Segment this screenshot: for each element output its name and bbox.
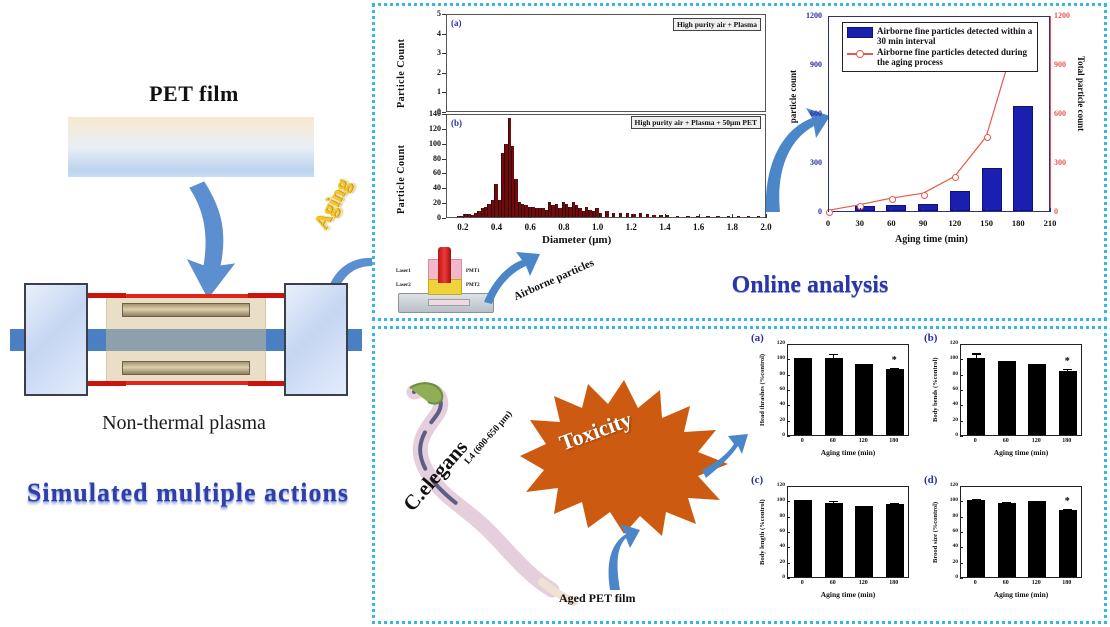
toxicity-errorbar-cap (972, 353, 981, 354)
arrow-aged-film-to-toxicity-icon (592, 520, 642, 592)
toxicity-xtick: 0 (792, 580, 812, 586)
toxicity-ytick: 100 (942, 497, 958, 503)
tox-a-tag: (a) (751, 332, 764, 344)
combo-xtick: 30 (849, 218, 871, 228)
toxicity-bar (1059, 510, 1077, 577)
significance-marker: * (1065, 496, 1070, 507)
pmt1-label: PMT1 (466, 269, 480, 274)
histogram-bar (716, 216, 719, 217)
histogram-b-ytick: 100 (419, 139, 441, 148)
combo-right-ytick: 0 (1054, 207, 1080, 216)
legend-bar-label: Airborne fine particles detected within … (877, 26, 1033, 46)
histogram-xtick: 1.6 (687, 222, 711, 232)
histogram-bar (646, 214, 649, 217)
combo-xtick-mark (923, 208, 924, 212)
toxicity-bar (886, 504, 904, 577)
histogram-bar (652, 215, 655, 217)
histogram-xtick-mark (497, 214, 498, 218)
histogram-a-ytick: 2 (419, 68, 441, 77)
toxicity-xtick: 60 (823, 438, 843, 444)
toxicity-ytick: 20 (769, 559, 785, 565)
combo-left-ytick: 300 (796, 158, 822, 167)
detector-laser-column (438, 247, 451, 283)
histogram-bar (747, 216, 750, 217)
toxicity-chart-body-bends: (b) Body bends (%control) * 020406080100… (930, 336, 1092, 474)
histogram-bar (666, 215, 669, 217)
combo-right-ytick: 600 (1054, 109, 1080, 118)
arrow-toxicity-to-charts-icon (700, 430, 750, 480)
toxicity-chart-head-thrashes: (a) Head thrashes (%control) * 020406080… (757, 336, 919, 474)
toxicity-ytick: 0 (942, 574, 958, 580)
toxicity-bar (967, 358, 985, 435)
histogram-a-ytick: 4 (419, 29, 441, 38)
combo-xtick: 90 (912, 218, 934, 228)
histogram-bar (639, 213, 642, 217)
tox-d-plot-area: * (960, 486, 1082, 578)
toxicity-bar (998, 503, 1016, 577)
combo-left-ytick: 900 (796, 60, 822, 69)
toxicity-bar (855, 506, 873, 577)
toxicity-bar (1028, 501, 1046, 577)
histogram-xtick: 0.4 (485, 222, 509, 232)
tox-c-ylabel: Body length (%control) (759, 486, 766, 578)
toxicity-ytick: 120 (942, 482, 958, 488)
toxicity-bar (825, 503, 843, 577)
toxicity-xtick: 60 (823, 580, 843, 586)
toxicity-ytick-mark (787, 532, 790, 533)
histogram-xtick: 0.8 (552, 222, 576, 232)
histogram-xtick: 2.0 (754, 222, 778, 232)
aging-label: Aging (308, 175, 355, 234)
toxicity-ytick-mark (787, 359, 790, 360)
histogram-bar (757, 216, 760, 217)
histogram-b-ytick: 120 (419, 124, 441, 133)
toxicity-xtick: 120 (1026, 580, 1046, 586)
combo-xtick-mark (987, 208, 988, 212)
histogram-b-ytick: 20 (419, 198, 441, 207)
legend-item-bar: Airborne fine particles detected within … (847, 26, 1033, 46)
histogram-bar (632, 214, 635, 217)
toxicity-ytick-mark (960, 563, 963, 564)
toxicity-ytick-mark (960, 501, 963, 502)
tox-b-xlabel: Aging time (min) (960, 448, 1082, 457)
toxicity-ytick: 40 (942, 401, 958, 407)
histogram-xtick-mark (732, 214, 733, 218)
toxicity-errorbar-cap (1063, 369, 1072, 370)
combo-left-ytick: 1200 (796, 11, 822, 20)
histogram-xtick: 1.4 (653, 222, 677, 232)
toxicity-xtick: 60 (996, 580, 1016, 586)
legend-line-swatch (847, 48, 873, 59)
toxicity-ytick: 80 (942, 513, 958, 519)
combo-xtick-mark (860, 208, 861, 212)
histogram-a-ytick-mark (442, 14, 446, 15)
toxicity-ytick-mark (960, 547, 963, 548)
toxicity-ytick-mark (787, 517, 790, 518)
histogram-b-ytick-mark (442, 129, 446, 130)
combo-right-axis (1050, 16, 1051, 212)
toxicity-bar (794, 500, 812, 577)
histogram-bar (619, 213, 622, 217)
histogram-a-ylabel: Particle Count (396, 16, 407, 108)
toxicity-ytick-mark (787, 501, 790, 502)
toxicity-ytick: 0 (769, 574, 785, 580)
histogram-b-ytick: 140 (419, 109, 441, 118)
combo-right-ytick: 1200 (1054, 11, 1080, 20)
toxicity-ytick-mark (960, 390, 963, 391)
tox-b-plot-area: * (960, 344, 1082, 436)
arrow-pet-to-reactor-icon (178, 180, 248, 300)
toxicity-bar (794, 358, 812, 435)
end-flange-left (24, 283, 88, 396)
histogram-a-plot-area: (a) High purity air + Plasma (446, 14, 766, 112)
toxicity-ytick-mark (960, 344, 963, 345)
toxicity-xtick: 60 (996, 438, 1016, 444)
histogram-bar (599, 213, 602, 217)
toxicity-ytick-mark (960, 359, 963, 360)
histogram-xtick: 0.2 (451, 222, 475, 232)
histogram-a-ytick: 5 (419, 9, 441, 18)
laser1-label: Laser1 (396, 269, 411, 274)
toxicity-ytick-mark (787, 375, 790, 376)
toxicity-errorbar-cap (1033, 364, 1042, 365)
toxicity-errorbar-cap (1002, 361, 1011, 362)
toxicity-ytick-mark (960, 517, 963, 518)
histogram-b-ytick-mark (442, 159, 446, 160)
histogram-xtick-mark (598, 214, 599, 218)
toxicity-errorbar-cap (860, 364, 869, 365)
histogram-b-ytick: 80 (419, 154, 441, 163)
toxicity-ytick-mark (787, 436, 790, 437)
significance-marker: * (892, 355, 897, 366)
histogram-bar (612, 213, 615, 217)
toxicity-xtick: 180 (1057, 438, 1077, 444)
toxicity-chart-brood-size: (d) Brood size (%control) * 020406080100… (930, 478, 1092, 616)
histogram-b-ytick: 0 (419, 213, 441, 222)
histogram-bar (686, 216, 689, 217)
toxicity-ytick: 60 (942, 528, 958, 534)
tox-b-tag: (b) (924, 332, 937, 344)
combo-xtick-mark (1018, 208, 1019, 212)
tox-d-tag: (d) (924, 474, 937, 486)
combo-left-ytick: 0 (796, 207, 822, 216)
histogram-b-ytick-mark (442, 173, 446, 174)
tox-c-xlabel: Aging time (min) (787, 590, 909, 599)
inner-electrode-bottom (122, 361, 250, 375)
legend-bar-swatch (847, 27, 873, 38)
toxicity-ytick: 120 (769, 340, 785, 346)
histogram-b-bars (447, 115, 765, 217)
toxicity-xtick: 180 (884, 580, 904, 586)
toxicity-ytick-mark (960, 436, 963, 437)
toxicity-chart-body-length: (c) Body length (%control) 0204060801001… (757, 478, 919, 616)
combo-xtick-mark (1050, 208, 1051, 212)
tox-d-ylabel: Brood size (%control) (932, 486, 939, 578)
toxicity-ytick-mark (787, 405, 790, 406)
toxicity-errorbar-cap (799, 359, 808, 360)
plasma-discharge-zone (106, 329, 266, 351)
toxicity-ytick: 120 (769, 482, 785, 488)
combo-xtick: 150 (976, 218, 998, 228)
tox-c-plot-area (787, 486, 909, 578)
combo-xtick-mark (891, 208, 892, 212)
histogram-xtick: 1.8 (720, 222, 744, 232)
toxicity-bar (825, 358, 843, 435)
toxicity-errorbar-cap (972, 499, 981, 500)
toxicity-ytick-mark (787, 563, 790, 564)
toxicity-ytick-mark (960, 421, 963, 422)
combo-xtick: 60 (880, 218, 902, 228)
toxicity-ytick-mark (787, 547, 790, 548)
histogram-xtick-mark (564, 214, 565, 218)
toxicity-ytick: 40 (769, 543, 785, 549)
legend-line-label: Airborne fine particles detected during … (877, 47, 1033, 67)
tox-c-tag: (c) (751, 474, 763, 486)
combo-xtick: 180 (1007, 218, 1029, 228)
toxicity-bar (967, 500, 985, 577)
histogram-bar (626, 213, 629, 217)
toxicity-errorbar-cap (860, 507, 869, 508)
histogram-a-ytick-mark (442, 53, 446, 54)
aging-particle-count-chart: particle count Total particle count 0300… (790, 8, 1100, 258)
toxicity-ytick-mark (960, 405, 963, 406)
combo-xtick-mark (955, 208, 956, 212)
aged-pet-film-label: Aged PET film (559, 591, 635, 606)
toxicity-ytick: 60 (769, 386, 785, 392)
histogram-a-annotation: High purity air + Plasma (673, 18, 761, 31)
histogram-b-ytick-mark (442, 203, 446, 204)
histogram-xlabel: Diameter (μm) (542, 234, 611, 246)
tox-a-xlabel: Aging time (min) (787, 448, 909, 457)
toxicity-ytick: 40 (942, 543, 958, 549)
combo-legend: Airborne fine particles detected within … (842, 22, 1038, 72)
histogram-bar (659, 215, 662, 217)
histogram-b-ytick: 60 (419, 168, 441, 177)
toxicity-ytick: 120 (942, 340, 958, 346)
graphical-abstract: PET film Aging Non-thermal plasma Simula… (0, 0, 1110, 627)
toxicity-ytick: 20 (942, 417, 958, 423)
toxicity-bar (1028, 364, 1046, 435)
toxicity-ytick: 100 (769, 355, 785, 361)
toxicity-ytick-mark (960, 486, 963, 487)
toxicity-ytick: 80 (769, 371, 785, 377)
legend-item-line: Airborne fine particles detected during … (847, 47, 1033, 67)
histogram-b-ytick-mark (442, 114, 446, 115)
combo-xtick-mark (828, 208, 829, 212)
toxicity-xtick: 120 (1026, 438, 1046, 444)
tox-a-ylabel: Head thrashes (%control) (759, 344, 766, 436)
toxicity-ytick-mark (787, 344, 790, 345)
toxicity-ytick: 80 (769, 513, 785, 519)
plasma-caption: Non-thermal plasma (24, 412, 344, 435)
histogram-bar (706, 216, 709, 217)
significance-marker: * (1065, 356, 1070, 367)
toxicity-errorbar-cap (1033, 501, 1042, 502)
histogram-xtick: 0.6 (518, 222, 542, 232)
histogram-bar (727, 216, 730, 217)
non-thermal-plasma-reactor-illustration (10, 283, 362, 396)
toxicity-xtick: 180 (1057, 580, 1077, 586)
combo-right-ytick: 300 (1054, 158, 1080, 167)
histogram-xtick-mark (530, 214, 531, 218)
histogram-b-ylabel: Particle Count (396, 118, 407, 214)
histogram-xtick-mark (631, 214, 632, 218)
toxicity-xtick: 0 (965, 580, 985, 586)
histogram-xtick: 1.0 (586, 222, 610, 232)
toxicity-ytick: 20 (942, 559, 958, 565)
combo-xtick: 210 (1039, 218, 1061, 228)
laser-particle-detector-illustration: Laser1 Laser2 PMT1 PMT2 (398, 245, 494, 315)
histogram-a-ytick-mark (442, 73, 446, 74)
particle-size-histogram-figure: Particle Count Particle Count (a) High p… (392, 10, 770, 250)
toxicity-ytick: 0 (942, 432, 958, 438)
inner-electrode-top (122, 303, 250, 317)
histogram-a-ytick: 3 (419, 48, 441, 57)
toxicity-xtick: 120 (853, 438, 873, 444)
toxicity-errorbar-cap (890, 503, 899, 504)
histogram-b-ytick-mark (442, 218, 446, 219)
toxicity-xtick: 180 (884, 438, 904, 444)
toxicity-bar (998, 361, 1016, 435)
toxicity-ytick-mark (787, 421, 790, 422)
toxicity-bar (855, 364, 873, 435)
tox-d-xlabel: Aging time (min) (960, 590, 1082, 599)
toxicity-errorbar-cap (799, 501, 808, 502)
end-flange-right (284, 283, 348, 396)
histogram-xtick-mark (665, 214, 666, 218)
toxicity-ytick: 100 (769, 497, 785, 503)
combo-line-marker (921, 192, 928, 199)
histogram-bar (676, 216, 679, 217)
histogram-b-ytick-mark (442, 188, 446, 189)
toxicity-ytick-mark (787, 390, 790, 391)
online-analysis-title: Online analysis (660, 272, 960, 299)
toxicity-ytick-mark (787, 578, 790, 579)
toxicity-ytick: 60 (942, 386, 958, 392)
laser2-label: Laser2 (396, 283, 411, 288)
pmt2-label: PMT2 (466, 283, 480, 288)
toxicity-errorbar-cap (1063, 509, 1072, 510)
histogram-b-ytick: 40 (419, 183, 441, 192)
page-title-pet-film: PET film (84, 81, 304, 107)
toxicity-errorbar-cap (890, 368, 899, 369)
histogram-a-ytick-mark (442, 92, 446, 93)
simulated-actions-title: Simulated multiple actions (4, 478, 372, 508)
combo-xtick: 120 (944, 218, 966, 228)
combo-right-ytick: 900 (1054, 60, 1080, 69)
tox-b-ylabel: Body bends (%control) (932, 344, 939, 436)
histogram-a-ytick: 1 (419, 87, 441, 96)
toxicity-errorbar-cap (829, 501, 838, 502)
histogram-xtick-mark (463, 214, 464, 218)
toxicity-ytick: 80 (942, 371, 958, 377)
histogram-b-plot-area: (b) High purity air + Plasma + 50μm PET (446, 114, 766, 218)
toxicity-xtick: 0 (792, 438, 812, 444)
combo-line-marker (826, 209, 833, 216)
toxicity-ytick-mark (787, 486, 790, 487)
pet-film-sheet-illustration (68, 117, 314, 177)
histogram-a-ytick-mark (442, 112, 446, 113)
toxicity-xtick: 0 (965, 438, 985, 444)
histogram-a-tag: (a) (451, 18, 462, 28)
toxicity-ytick-mark (960, 375, 963, 376)
histogram-bar (605, 211, 608, 217)
toxicity-bar (1059, 371, 1077, 435)
combo-left-ytick: 600 (796, 109, 822, 118)
toxicity-starburst-shape (520, 378, 730, 538)
toxicity-ytick: 20 (769, 417, 785, 423)
histogram-xtick-mark (699, 214, 700, 218)
histogram-bar (737, 216, 740, 217)
toxicity-ytick: 0 (769, 432, 785, 438)
toxicity-ytick-mark (960, 532, 963, 533)
toxicity-ytick: 60 (769, 528, 785, 534)
toxicity-errorbar-cap (1002, 502, 1011, 503)
toxicity-errorbar-cap (829, 354, 838, 355)
histogram-a-ytick-mark (442, 34, 446, 35)
detector-slot (428, 299, 470, 306)
combo-xlabel: Aging time (min) (895, 234, 968, 245)
tox-a-plot-area: * (787, 344, 909, 436)
toxicity-ytick-mark (960, 578, 963, 579)
histogram-xtick: 1.2 (619, 222, 643, 232)
combo-xtick: 0 (817, 218, 839, 228)
histogram-b-ytick-mark (442, 144, 446, 145)
toxicity-ytick: 40 (769, 401, 785, 407)
toxicity-xtick: 120 (853, 580, 873, 586)
toxicity-ytick: 100 (942, 355, 958, 361)
toxicity-bar (886, 369, 904, 435)
